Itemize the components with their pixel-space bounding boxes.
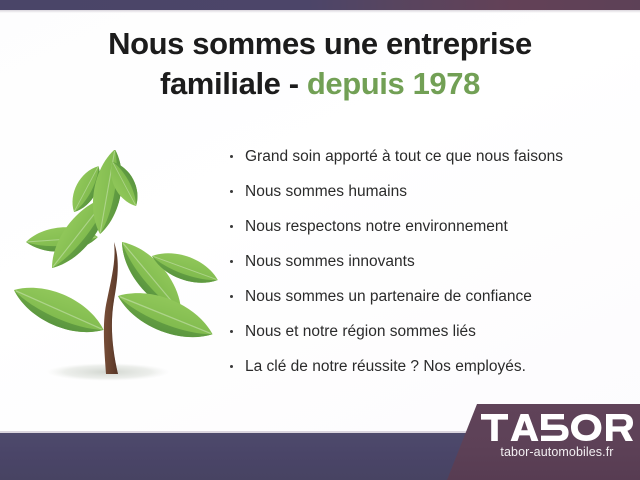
bullet-dot-icon: [230, 295, 233, 298]
brand-domain-label: tabor-automobiles.fr: [477, 445, 637, 459]
list-item: Nous sommes humains: [226, 183, 630, 200]
bullet-dot-icon: [230, 330, 233, 333]
top-accent-strip: [0, 0, 640, 10]
list-item: La clé de notre réussite ? Nos employés.: [226, 358, 630, 375]
list-item-label: La clé de notre réussite ? Nos employés.: [245, 358, 526, 375]
slide-root: Nous sommes une entreprise familiale - d…: [0, 0, 640, 480]
list-item: Grand soin apporté à tout ce que nous fa…: [226, 148, 630, 165]
tabor-wordmark-icon: [481, 414, 633, 442]
list-item-label: Nous sommes innovants: [245, 253, 415, 270]
page-title-line-2: familiale - depuis 1978: [0, 66, 640, 103]
list-item-label: Nous respectons notre environnement: [245, 218, 508, 235]
tree-leaf: [8, 276, 110, 345]
brand-logo: tabor-automobiles.fr: [477, 414, 637, 459]
benefits-list: Grand soin apporté à tout ce que nous fa…: [226, 148, 630, 375]
tree-trunk: [104, 242, 118, 374]
list-item-label: Grand soin apporté à tout ce que nous fa…: [245, 148, 563, 165]
page-title-accent: depuis 1978: [307, 66, 480, 101]
top-accent-strip-shadow: [0, 10, 640, 13]
page-title-line-2-plain: familiale -: [160, 66, 307, 101]
page-title: Nous sommes une entreprise familiale - d…: [0, 26, 640, 102]
bullet-dot-icon: [230, 260, 233, 263]
bullet-dot-icon: [230, 225, 233, 228]
list-item: Nous sommes innovants: [226, 253, 630, 270]
list-item: Nous et notre région sommes liés: [226, 323, 630, 340]
tree-illustration: [8, 150, 220, 392]
page-title-line-1: Nous sommes une entreprise: [0, 26, 640, 63]
list-item-label: Nous et notre région sommes liés: [245, 323, 476, 340]
list-item-label: Nous sommes humains: [245, 183, 407, 200]
bullet-dot-icon: [230, 190, 233, 193]
bullet-dot-icon: [230, 155, 233, 158]
list-item: Nous sommes un partenaire de confiance: [226, 288, 630, 305]
bullet-dot-icon: [230, 365, 233, 368]
list-item: Nous respectons notre environnement: [226, 218, 630, 235]
list-item-label: Nous sommes un partenaire de confiance: [245, 288, 532, 305]
